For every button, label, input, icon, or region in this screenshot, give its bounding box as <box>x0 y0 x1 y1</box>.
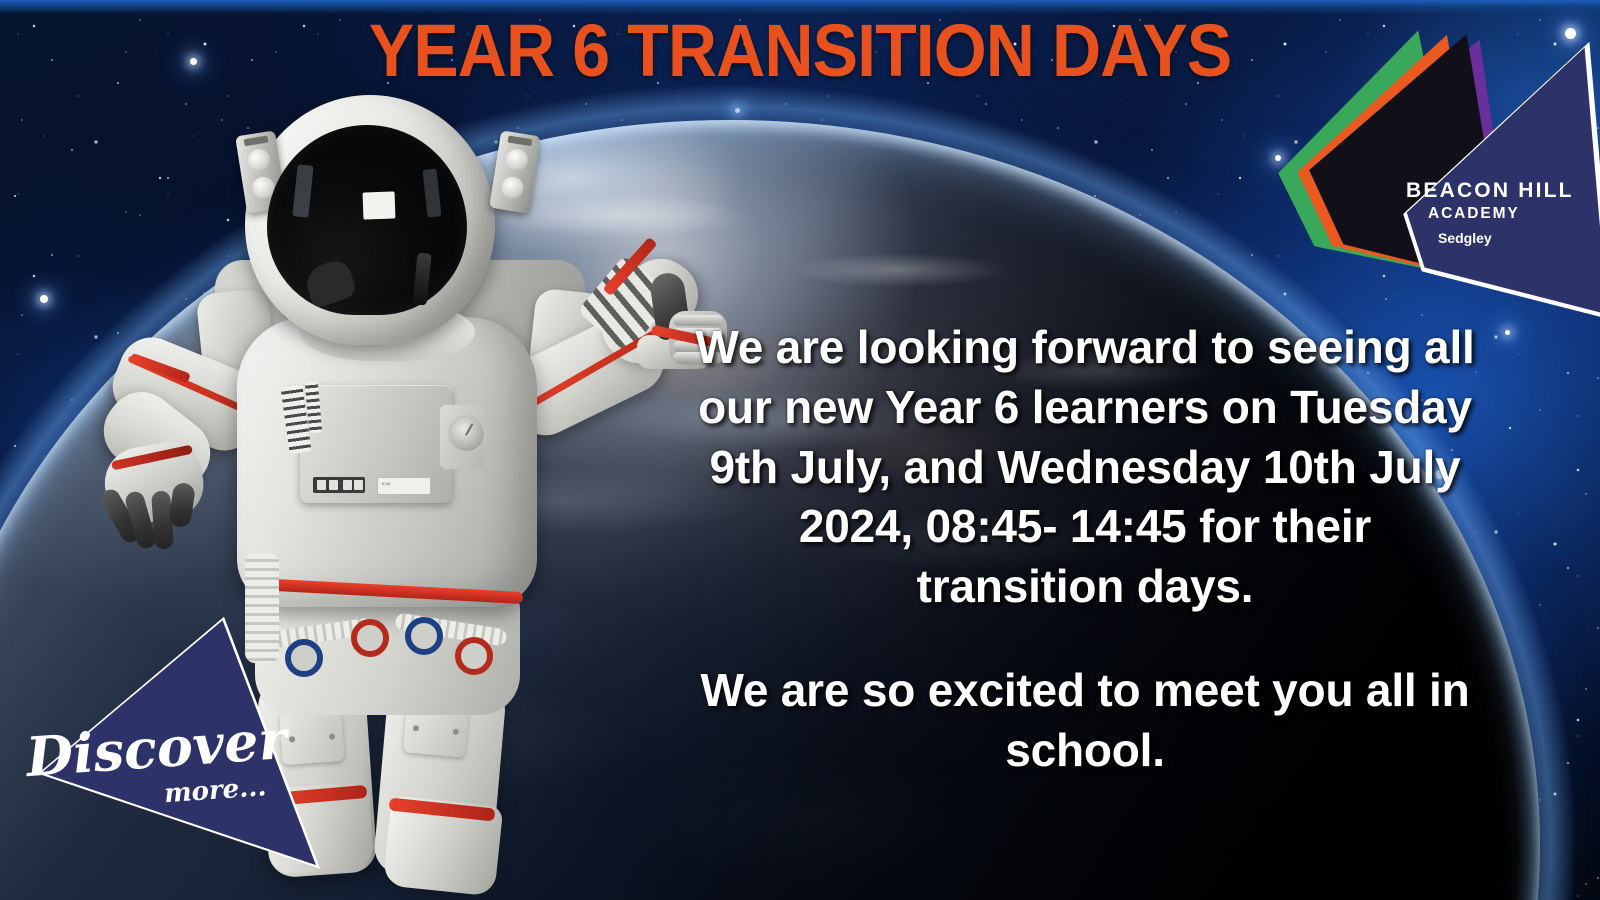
helmet-lamp-right <box>489 130 541 213</box>
suit-gauge-dial <box>448 415 486 453</box>
poster-canvas: EVA Discover more... YEAR 6 TRANSITION D… <box>0 0 1600 900</box>
logo-name-line-3: Sedgley <box>1438 231 1600 245</box>
badge-text-group: Discover more... <box>26 720 316 802</box>
logo-name-line-1: BEACON HILL <box>1406 180 1600 201</box>
helmet-visor <box>267 125 467 315</box>
beacon-hill-academy-logo[interactable]: BEACON HILL ACADEMY Sedgley <box>1290 18 1600 328</box>
suit-hose-ring-red-2 <box>455 637 493 675</box>
logo-name-line-2: ACADEMY <box>1428 206 1600 222</box>
message-paragraph-2: We are so excited to meet you all in sch… <box>690 661 1480 781</box>
logo-text-group: BEACON HILL ACADEMY Sedgley <box>1406 180 1600 245</box>
discover-more-badge[interactable]: Discover more... <box>20 600 320 880</box>
astronaut-open-glove-left <box>95 435 215 545</box>
paragraph-spacer <box>690 617 1480 661</box>
suit-switch-row <box>313 477 365 493</box>
message-paragraph-1: We are looking forward to seeing all our… <box>690 318 1480 617</box>
visor-glint <box>363 191 396 219</box>
suit-label-text: EVA <box>382 481 391 486</box>
bright-star <box>735 108 740 113</box>
poster-message: We are looking forward to seeing all our… <box>690 318 1480 781</box>
suit-hose-ring-blue <box>405 617 443 655</box>
suit-label-tag: EVA <box>377 477 431 495</box>
suit-hose-ring-red <box>351 619 389 657</box>
